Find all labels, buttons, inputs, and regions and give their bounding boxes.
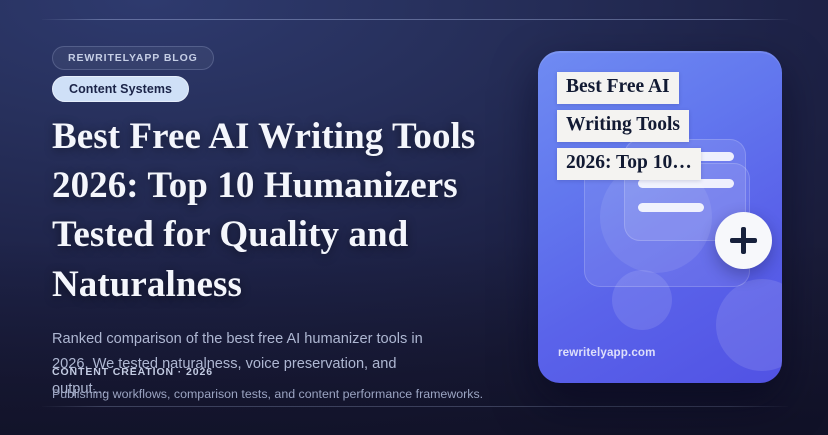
card-headline: Best Free AI Writing Tools 2026: Top 10… <box>557 72 768 186</box>
decorative-text-line <box>638 203 704 212</box>
article-text-column: REWRITELYAPP BLOG Content Systems Best F… <box>52 46 522 417</box>
article-title: Best Free AI Writing Tools 2026: Top 10 … <box>52 112 522 309</box>
card-headline-line: Best Free AI <box>557 72 679 104</box>
article-meta: CONTENT CREATION · 2026 Publishing workf… <box>52 366 532 401</box>
card-domain-label: rewritelyapp.com <box>558 346 656 359</box>
card-headline-line: 2026: Top 10… <box>557 148 701 180</box>
preview-card[interactable]: Best Free AI Writing Tools 2026: Top 10…… <box>538 51 782 383</box>
badge-group: REWRITELYAPP BLOG Content Systems <box>52 46 522 102</box>
meta-kicker: CONTENT CREATION · 2026 <box>52 366 532 378</box>
social-share-preview: REWRITELYAPP BLOG Content Systems Best F… <box>0 0 828 435</box>
decorative-circle <box>716 279 782 371</box>
card-headline-line: Writing Tools <box>557 110 689 142</box>
brand-badge[interactable]: REWRITELYAPP BLOG <box>52 46 214 70</box>
top-divider <box>42 19 788 20</box>
decorative-circle <box>612 270 672 330</box>
category-badge[interactable]: Content Systems <box>52 76 189 102</box>
plus-icon-vertical-bar <box>741 227 746 254</box>
meta-subtitle: Publishing workflows, comparison tests, … <box>52 387 532 401</box>
plus-icon[interactable] <box>715 212 772 269</box>
